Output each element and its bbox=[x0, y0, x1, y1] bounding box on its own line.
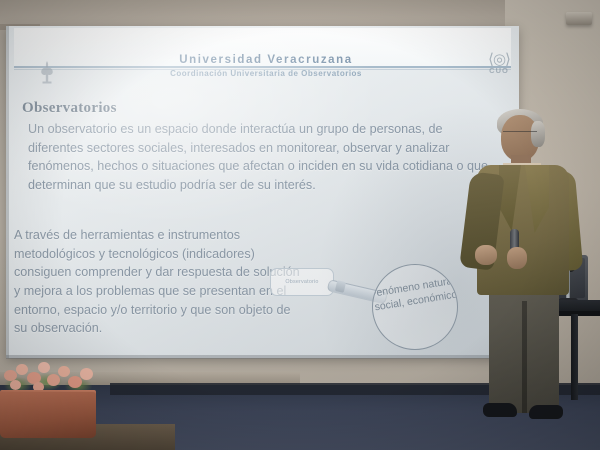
flower-bloom bbox=[68, 376, 82, 388]
presenter-right-hand bbox=[507, 247, 527, 269]
cuo-eye-icon: ⟨◎⟩ bbox=[478, 52, 520, 67]
flower-bloom bbox=[38, 362, 50, 373]
flower-bloom bbox=[47, 374, 60, 386]
photo-scene: Universidad Veracruzana Coordinación Uni… bbox=[0, 0, 600, 450]
slide-title: Observatorios bbox=[22, 100, 117, 117]
header-title-group: Universidad Veracruzana Coordinación Uni… bbox=[116, 54, 416, 78]
presenter-glasses bbox=[503, 131, 537, 138]
flower-bloom bbox=[10, 380, 21, 390]
institution-title: Universidad Veracruzana bbox=[116, 54, 416, 66]
slide-paragraph-1: Un observatorio es un espacio donde inte… bbox=[28, 120, 498, 195]
wall-bracket-fixture bbox=[566, 12, 592, 25]
diagram-observatorio-box: Observatorio bbox=[270, 268, 334, 296]
magnifier-lens-icon: Fenómeno natural, social, económico bbox=[372, 264, 458, 350]
department-subtitle: Coordinación Universitaria de Observator… bbox=[116, 69, 416, 78]
presenter-left-shoe bbox=[483, 403, 517, 417]
projection-screen: Universidad Veracruzana Coordinación Uni… bbox=[6, 26, 519, 358]
slide-paragraph-2: A través de herramientas e instrumentos … bbox=[14, 226, 304, 338]
presenter-right-shoe bbox=[529, 405, 563, 419]
diagram-lens-label: Fenómeno natural, social, económico bbox=[372, 273, 458, 316]
diagram-box-label: Observatorio bbox=[285, 279, 318, 285]
flower-bloom bbox=[58, 366, 70, 377]
cuo-logo-text: CUO bbox=[478, 66, 520, 75]
uv-fleur-de-lis-emblem bbox=[36, 60, 58, 86]
screen-bottom-frame bbox=[6, 355, 519, 359]
flower-planter-box bbox=[0, 360, 105, 450]
presenter-speaker bbox=[455, 105, 590, 425]
cuo-logo: ⟨◎⟩ CUO bbox=[478, 52, 520, 75]
presenter-left-hand bbox=[475, 245, 497, 265]
presenter-leg-separation bbox=[522, 301, 527, 413]
flower-bloom bbox=[80, 368, 93, 380]
planter-body bbox=[0, 392, 96, 438]
screen-left-frame bbox=[6, 26, 9, 358]
flower-bloom bbox=[16, 364, 28, 375]
